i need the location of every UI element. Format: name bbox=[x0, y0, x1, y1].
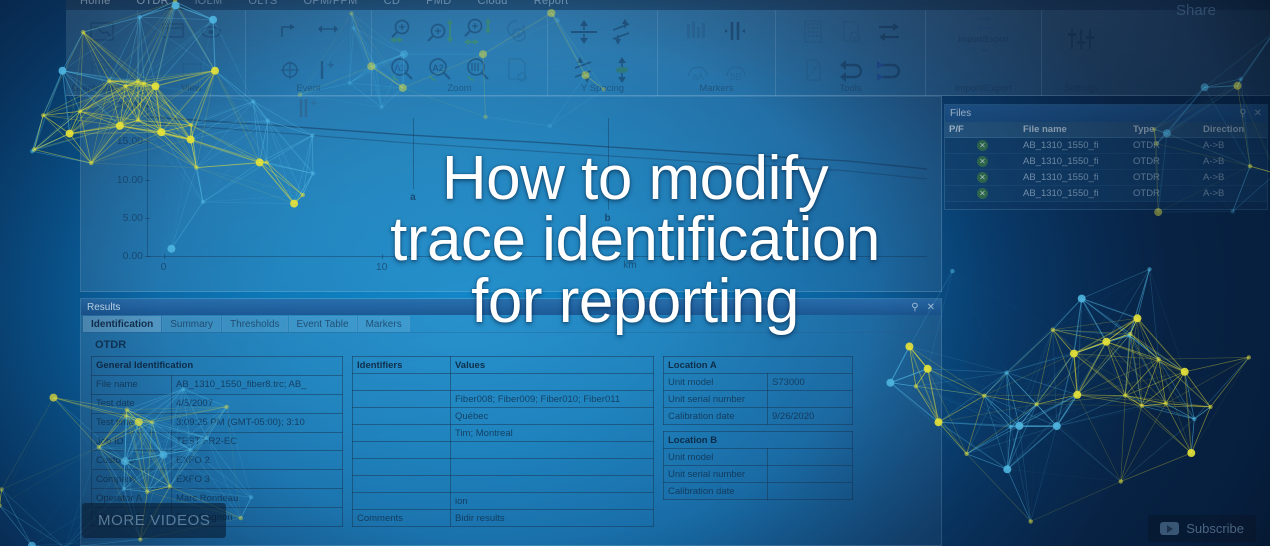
ribbon-tab-home[interactable]: Home bbox=[80, 0, 111, 7]
chevron-down-icon[interactable] bbox=[965, 44, 1002, 58]
x-axis-unit-label: km bbox=[623, 260, 636, 271]
row-key: Test date bbox=[92, 394, 172, 413]
ribbon-group-label: Graph options bbox=[66, 83, 137, 94]
row-value[interactable] bbox=[451, 442, 654, 459]
ribbon-group-label: View bbox=[138, 83, 245, 94]
zoom-horizontal-icon[interactable] bbox=[384, 13, 421, 50]
row-key[interactable] bbox=[353, 442, 451, 459]
cell-type: OTDR bbox=[1129, 172, 1199, 183]
ribbon-group-label: Zoom bbox=[372, 83, 547, 94]
x-axis-tick: 10 bbox=[376, 261, 388, 273]
results-tab-strip[interactable]: Identification Summary Thresholds Event … bbox=[81, 315, 941, 333]
row-value[interactable]: Bidir results bbox=[451, 510, 654, 527]
cell-file-name: AB_1310_1550_fi bbox=[1019, 140, 1129, 151]
sliders-icon[interactable] bbox=[1063, 21, 1100, 58]
ribbon-group-y-spacing: Y Spacing bbox=[548, 10, 658, 96]
tab-summary[interactable]: Summary bbox=[162, 316, 221, 332]
share-label[interactable]: Share bbox=[1176, 2, 1216, 19]
row-value[interactable]: TEST FR2-EC bbox=[172, 432, 343, 451]
ribbon-group-label: Settings bbox=[1042, 83, 1120, 94]
row-value[interactable] bbox=[451, 374, 654, 391]
graph-icon[interactable] bbox=[83, 13, 120, 50]
cell-file-name: AB_1310_1550_fi bbox=[1019, 156, 1129, 167]
tab-thresholds[interactable]: Thresholds bbox=[222, 316, 287, 332]
ribbon-tab-opm-ppm[interactable]: OPM/PPM bbox=[304, 0, 358, 7]
validate-icon[interactable] bbox=[832, 13, 869, 50]
files-table-header: P/F File name Type Direction bbox=[945, 122, 1267, 138]
row-key[interactable] bbox=[353, 425, 451, 442]
import-export-button-label[interactable]: Import/Export bbox=[958, 35, 1009, 44]
row-value[interactable]: Québec bbox=[451, 408, 654, 425]
ribbon-tab-otdr[interactable]: OTDR bbox=[137, 0, 169, 7]
row-key: Test time bbox=[92, 413, 172, 432]
spacing-expand-icon[interactable] bbox=[565, 13, 602, 50]
svg-text:aA: aA bbox=[691, 72, 704, 83]
location-b-header: Location B bbox=[664, 432, 853, 449]
fail-badge: ✕ bbox=[977, 156, 988, 167]
y-axis-tick: 20.00 bbox=[117, 100, 143, 112]
subscribe-button[interactable]: Subscribe bbox=[1148, 515, 1256, 542]
row-key: File name bbox=[92, 375, 172, 394]
row-value[interactable]: 3:09:25 PM (GMT-05:00); 3:10 bbox=[172, 413, 343, 432]
move-event-icon[interactable] bbox=[271, 13, 308, 50]
row-key[interactable] bbox=[353, 476, 451, 493]
row-key: Calibration date bbox=[664, 483, 768, 500]
column-header-type: Type bbox=[1129, 124, 1199, 135]
eye-icon[interactable] bbox=[192, 13, 229, 50]
ribbon-group-view: View bbox=[138, 10, 246, 96]
row-value[interactable]: 4/5/2007 bbox=[172, 394, 343, 413]
ribbon-group-graph-options: Graph options bbox=[66, 10, 138, 96]
row-key: Calibration date bbox=[664, 408, 768, 425]
pin-icon[interactable]: ⚲ bbox=[911, 302, 918, 313]
fail-badge: ✕ bbox=[977, 140, 988, 151]
row-key[interactable] bbox=[353, 391, 451, 408]
marker-pair-icon[interactable] bbox=[717, 13, 754, 50]
row-value[interactable]: 9/26/2020 bbox=[768, 408, 853, 425]
table-row[interactable]: ✕ AB_1310_1550_fi OTDR A->B bbox=[945, 154, 1267, 170]
ribbon-group-tools: Tools bbox=[776, 10, 926, 96]
close-icon[interactable]: ✕ bbox=[1254, 108, 1262, 119]
zoom-vertical-icon[interactable] bbox=[422, 13, 459, 50]
ribbon-tab-cloud[interactable]: Cloud bbox=[477, 0, 507, 7]
table-row[interactable]: ✕ AB_1310_1550_fi OTDR A->B bbox=[945, 138, 1267, 154]
cell-type: OTDR bbox=[1129, 140, 1199, 151]
row-key: Customer bbox=[92, 451, 172, 470]
location-a-header: Location A bbox=[664, 357, 853, 374]
y-axis-tick: 5.00 bbox=[123, 212, 143, 224]
ribbon-tab-olts[interactable]: OLTS bbox=[248, 0, 277, 7]
row-value[interactable] bbox=[451, 459, 654, 476]
general-identification-table: General Identification File nameAB_1310_… bbox=[91, 356, 343, 527]
more-videos-button[interactable]: MORE VIDEOS bbox=[82, 503, 226, 538]
cell-direction: A->B bbox=[1199, 156, 1265, 167]
cell-type: OTDR bbox=[1129, 156, 1199, 167]
cell-file-name: AB_1310_1550_fi bbox=[1019, 172, 1129, 183]
cell-file-name: AB_1310_1550_fi bbox=[1019, 188, 1129, 199]
youtube-play-icon bbox=[1160, 522, 1179, 535]
y-axis-tick: 10.00 bbox=[117, 174, 143, 186]
cell-type: OTDR bbox=[1129, 188, 1199, 199]
ribbon-tab-cd[interactable]: CD bbox=[384, 0, 401, 7]
row-key: Job ID bbox=[92, 432, 172, 451]
row-value[interactable]: Fiber008; Fiber009; Fiber010; Fiber011 bbox=[451, 391, 654, 408]
ribbon-group-label: Tools bbox=[776, 83, 925, 94]
cell-direction: A->B bbox=[1199, 140, 1265, 151]
table-row[interactable]: ✕ AB_1310_1550_fi OTDR A->B bbox=[945, 170, 1267, 186]
row-value[interactable] bbox=[768, 466, 853, 483]
row-value[interactable] bbox=[451, 476, 654, 493]
files-panel-title: Files bbox=[950, 108, 1232, 119]
row-value[interactable]: AB_1310_1550_fiber8.trc; AB_ bbox=[172, 375, 343, 394]
column-header-pf: P/F bbox=[945, 124, 1019, 135]
ribbon-group-markers: aA bB Markers bbox=[658, 10, 776, 96]
column-header-file-name: File name bbox=[1019, 124, 1129, 135]
row-value[interactable] bbox=[768, 483, 853, 500]
files-panel-titlebar: Files ⚲ ✕ bbox=[945, 105, 1267, 122]
zoom-reset-icon[interactable] bbox=[498, 13, 535, 50]
svg-text:A1: A1 bbox=[394, 63, 406, 73]
results-panel-titlebar: Results ⚲ ✕ bbox=[81, 299, 941, 315]
row-key[interactable] bbox=[353, 408, 451, 425]
subscribe-label: Subscribe bbox=[1186, 521, 1244, 536]
ribbon-group-label: Markers bbox=[658, 83, 775, 94]
tab-markers[interactable]: Markers bbox=[358, 316, 410, 332]
svg-text:+: + bbox=[327, 57, 335, 72]
spacing-shift-icon[interactable] bbox=[603, 13, 640, 50]
pin-icon[interactable]: ⚲ bbox=[1239, 108, 1246, 119]
ribbon-tab-iolm[interactable]: iOLM bbox=[195, 0, 222, 7]
results-panel-title: Results bbox=[87, 302, 903, 313]
cell-direction: A->B bbox=[1199, 188, 1265, 199]
ribbon-group-label: Event bbox=[246, 83, 371, 94]
ribbon-group-import-export: Import/Export Import/Export bbox=[926, 10, 1042, 96]
identifiers-values-table: Identifiers Values Fiber008; Fiber009; F… bbox=[352, 356, 654, 527]
row-key: Unit serial number bbox=[664, 391, 768, 408]
general-identification-header: General Identification bbox=[92, 357, 343, 376]
row-key: Comments bbox=[353, 510, 451, 527]
tab-identification[interactable]: Identification bbox=[83, 316, 161, 332]
column-header-values: Values bbox=[451, 357, 654, 374]
row-key: Company bbox=[92, 470, 172, 489]
ribbon-group-zoom: A1 A2 Zoom bbox=[372, 10, 548, 96]
ribbon-tab-strip[interactable]: Home OTDR iOLM OLTS OPM/PPM CD PMD Cloud… bbox=[66, 0, 1270, 10]
cell-direction: A->B bbox=[1199, 172, 1265, 183]
row-key: Unit serial number bbox=[664, 466, 768, 483]
ribbon-group-settings: Settings bbox=[1042, 10, 1120, 96]
results-measurement-kind: OTDR bbox=[81, 333, 941, 356]
swap-direction-icon[interactable] bbox=[870, 13, 907, 50]
shift-event-icon[interactable] bbox=[309, 13, 346, 50]
row-value[interactable]: EXFO 2 bbox=[172, 451, 343, 470]
row-key[interactable] bbox=[353, 459, 451, 476]
fail-badge: ✕ bbox=[977, 188, 988, 199]
location-a-table: Location A Unit modelS73000 Unit serial … bbox=[663, 356, 853, 425]
row-value[interactable]: S73000 bbox=[768, 374, 853, 391]
row-key: Unit model bbox=[664, 374, 768, 391]
row-value[interactable] bbox=[768, 449, 853, 466]
otdr-graph-panel: 0.00 5.00 10.00 15.00 20.00 0 10 km a b bbox=[80, 96, 942, 292]
ribbon-tab-report[interactable]: Report bbox=[534, 0, 569, 7]
svg-text:A2: A2 bbox=[432, 63, 444, 73]
files-panel: Files ⚲ ✕ P/F File name Type Direction ✕… bbox=[944, 104, 1268, 210]
y-axis-tick: 0.00 bbox=[123, 250, 143, 262]
ribbon-group-label: Y Spacing bbox=[548, 83, 657, 94]
row-value[interactable] bbox=[768, 391, 853, 408]
svg-text:bB: bB bbox=[729, 72, 742, 83]
otdr-plot-area[interactable]: 0.00 5.00 10.00 15.00 20.00 0 10 km a b bbox=[147, 103, 927, 257]
zoom-full-icon[interactable] bbox=[460, 13, 497, 50]
calculator-icon[interactable] bbox=[794, 13, 831, 50]
row-key[interactable] bbox=[353, 374, 451, 391]
close-icon[interactable]: ✕ bbox=[927, 302, 935, 313]
marker-bars-icon[interactable] bbox=[679, 13, 716, 50]
row-value: ion bbox=[451, 493, 654, 510]
ribbon-toolbar: Home OTDR iOLM OLTS OPM/PPM CD PMD Cloud… bbox=[66, 0, 1270, 96]
ribbon-tab-pmd[interactable]: PMD bbox=[426, 0, 451, 7]
column-header-direction: Direction bbox=[1199, 124, 1265, 135]
column-header-identifiers: Identifiers bbox=[353, 357, 451, 374]
ribbon-group-label: Import/Export bbox=[926, 83, 1041, 94]
otdr-trace-curve bbox=[148, 103, 927, 253]
video-thumbnail-stage: Home OTDR iOLM OLTS OPM/PPM CD PMD Cloud… bbox=[0, 0, 1270, 546]
import-export-icon[interactable] bbox=[969, 13, 999, 35]
row-value[interactable]: Tim; Montreal bbox=[451, 425, 654, 442]
row-key bbox=[353, 493, 451, 510]
x-axis-tick: 0 bbox=[161, 261, 167, 273]
row-key: Unit model bbox=[664, 449, 768, 466]
y-axis-tick: 15.00 bbox=[117, 135, 143, 147]
application-screenshot: Home OTDR iOLM OLTS OPM/PPM CD PMD Cloud… bbox=[66, 0, 1270, 546]
show-hide-traces-icon[interactable] bbox=[154, 13, 191, 50]
location-b-table: Location B Unit model Unit serial number… bbox=[663, 431, 853, 500]
row-value[interactable]: EXFO 3 bbox=[172, 470, 343, 489]
table-row[interactable]: ✕ AB_1310_1550_fi OTDR A->B bbox=[945, 186, 1267, 202]
tab-event-table[interactable]: Event Table bbox=[289, 316, 357, 332]
fail-badge: ✕ bbox=[977, 172, 988, 183]
ribbon-group-event: + + Event bbox=[246, 10, 372, 96]
